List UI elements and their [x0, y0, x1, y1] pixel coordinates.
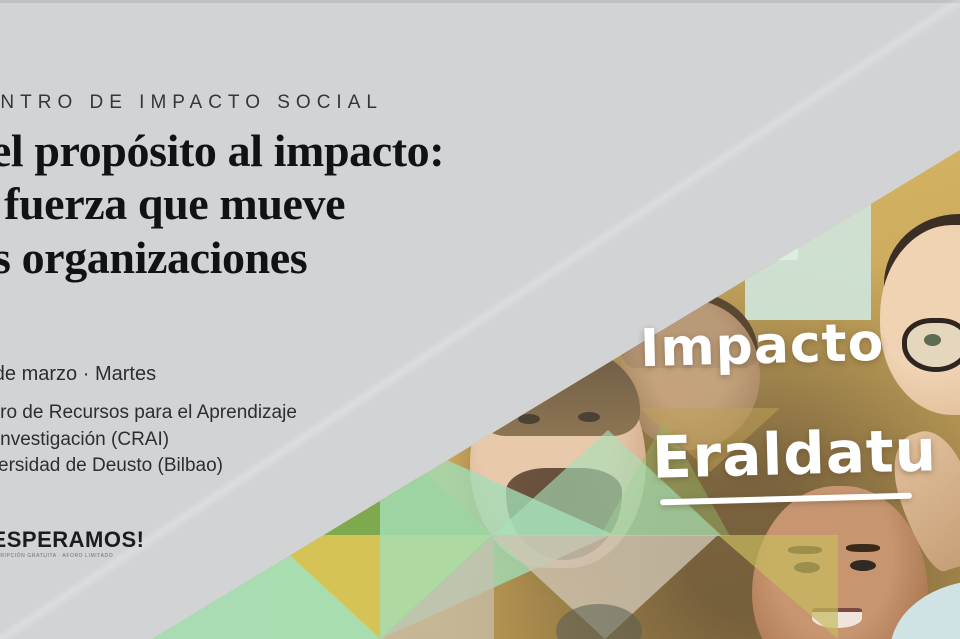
headline-line-3: las organizaciones [0, 231, 518, 284]
call-to-action-text: ¡TE ESPERAMOS! [0, 527, 144, 553]
person-smiling-woman-brow-right [846, 544, 880, 552]
top-divider-rule [0, 0, 960, 3]
person-bearded-man-hair [478, 344, 640, 436]
venue-line-2: y la Investigación (CRAI) [0, 427, 297, 454]
eyebrow-label: CENTRO DE IMPACTO SOCIAL [0, 92, 383, 114]
venue-line-3: Universidad de Deusto (Bilbao) [0, 453, 297, 480]
person-bearded-man-eye-left [518, 414, 540, 424]
mint-wall-accent [760, 230, 798, 260]
event-venue: Centro de Recursos para el Aprendizaje y… [0, 400, 297, 480]
person-glasses-eye [924, 334, 941, 346]
event-date: 25 de marzo · Martes [0, 361, 156, 388]
mint-wall-panel [745, 196, 871, 320]
call-to-action-subtext: INSCRIPCIÓN GRATUITA · AFORO LIMITADO [0, 553, 113, 559]
page-title: Del propósito al impacto: la fuerza que … [0, 124, 518, 284]
script-line-eraldatu: Eraldatu [651, 416, 938, 491]
venue-line-1: Centro de Recursos para el Aprendizaje [0, 400, 297, 427]
script-line-impacto: Impacto [639, 313, 885, 379]
event-poster: Impacto Eraldatu CENTRO DE IMPACTO SOCIA… [0, 0, 960, 639]
person-bearded-man-eye-right [578, 412, 600, 422]
person-smiling-woman-eye-right [850, 560, 876, 571]
headline-line-2: la fuerza que mueve [0, 177, 518, 230]
headline-line-1: Del propósito al impacto: [0, 124, 518, 177]
